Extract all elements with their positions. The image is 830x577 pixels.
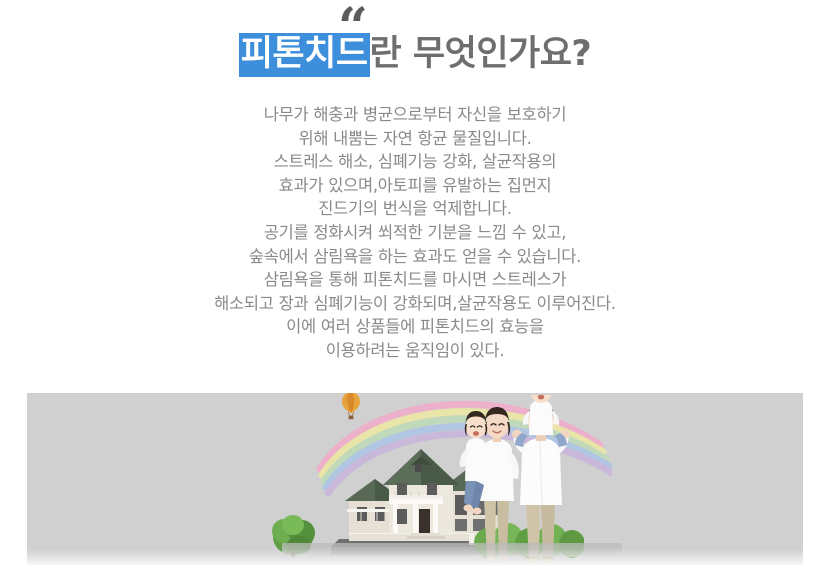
- body-line: 해소되고 장과 심폐기능이 강화되며,살균작용도 이루어진다.: [0, 292, 830, 316]
- hot-air-balloon-icon: [340, 393, 362, 421]
- body-line: 이에 여러 상품들에 피톤치드의 효능을: [0, 315, 830, 339]
- promo-page: “ 피톤치드란 무엇인가요? 나무가 해충과 병균으로부터 자신을 보호하기 위…: [0, 0, 830, 577]
- body-copy: 나무가 해충과 병균으로부터 자신을 보호하기 위해 내뿜는 자연 항균 물질입…: [0, 103, 830, 363]
- body-line: 나무가 해충과 병균으로부터 자신을 보호하기: [0, 103, 830, 127]
- banner-image: [27, 393, 803, 565]
- title-remainder: 란 무엇인가요?: [370, 34, 592, 74]
- body-line: 이용하려는 움직임이 있다.: [0, 339, 830, 363]
- family-photo: [452, 395, 592, 565]
- body-line: 삼림욕을 통해 피톤치드를 마시면 스트레스가: [0, 268, 830, 292]
- banner-bottom-fade: [27, 549, 803, 565]
- body-line: 진드기의 번식을 억제합니다.: [0, 197, 830, 221]
- page-title: 피톤치드란 무엇인가요?: [0, 32, 830, 76]
- body-line: 숲속에서 삼림욕을 하는 효과도 얻을 수 있습니다.: [0, 245, 830, 269]
- body-line: 효과가 있으며,아토피를 유발하는 집먼지: [0, 174, 830, 198]
- banner-scene: [27, 393, 803, 565]
- body-line: 위해 내뿜는 자연 항균 물질입니다.: [0, 127, 830, 151]
- body-line: 스트레스 해소, 심폐기능 강화, 살균작용의: [0, 150, 830, 174]
- title-highlight-keyword: 피톤치드: [239, 33, 370, 77]
- body-line: 공기를 정화시켜 쐬적한 기분을 느낌 수 있고,: [0, 221, 830, 245]
